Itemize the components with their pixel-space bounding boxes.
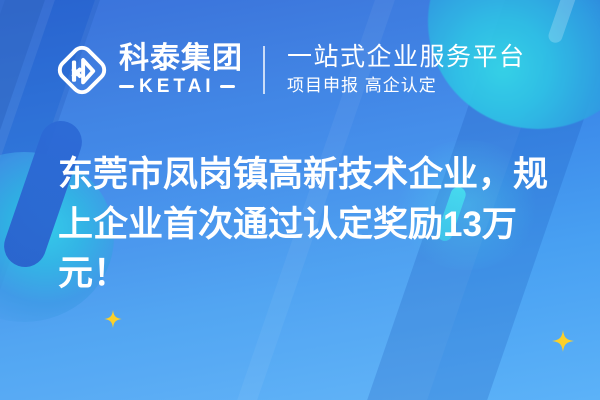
- ketai-diamond-monogram-icon: [54, 42, 110, 98]
- banner-header: 科泰集团 KETAI 一站式企业服务平台 项目申报 高企认定: [0, 0, 600, 140]
- brand-name-en-row: KETAI: [119, 77, 243, 96]
- tagline-block: 一站式企业服务平台 项目申报 高企认定: [287, 42, 526, 98]
- brand-name-cn: 科泰集团: [119, 44, 243, 75]
- tagline-secondary: 项目申报 高企认定: [287, 75, 526, 98]
- brand-name-en: KETAI: [139, 77, 215, 96]
- banner-headline: 东莞市凤岗镇高新技术企业，规上企业首次通过认定奖励13万元！: [58, 150, 566, 299]
- brand-rule-right: [220, 85, 235, 88]
- four-point-star-sparkle-icon: [104, 310, 122, 328]
- brand-lockup: 科泰集团 KETAI: [54, 42, 243, 98]
- promo-banner: 科泰集团 KETAI 一站式企业服务平台 项目申报 高企认定 东莞市凤岗镇高新技…: [0, 0, 600, 400]
- brand-rule-left: [119, 85, 134, 88]
- brand-text: 科泰集团 KETAI: [119, 44, 243, 96]
- tagline-primary: 一站式企业服务平台: [287, 42, 526, 73]
- four-point-star-sparkle-icon: [552, 330, 574, 352]
- brand-tagline-divider: [263, 46, 265, 94]
